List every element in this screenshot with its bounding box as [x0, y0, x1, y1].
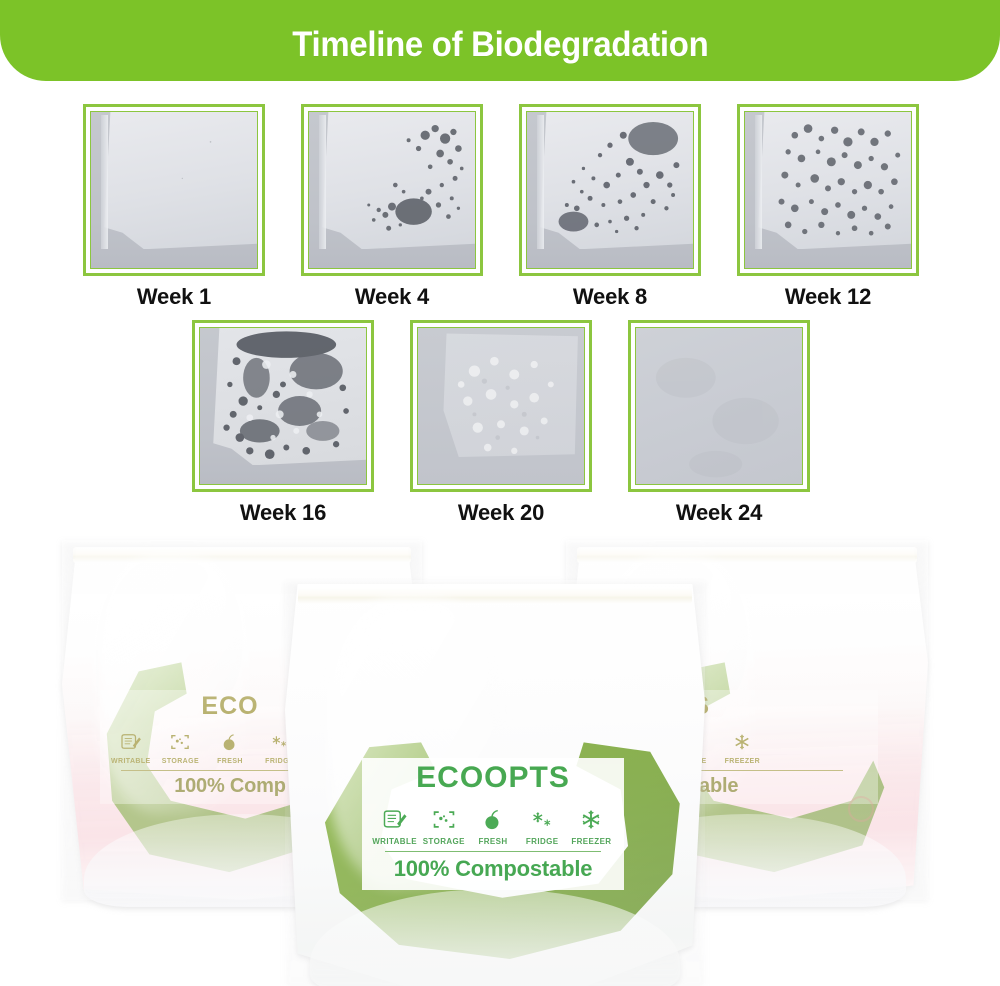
timeline-item-week-24[interactable]: Week 24 — [610, 320, 828, 526]
storage-icon — [431, 809, 457, 834]
thumbnail-frame — [301, 104, 483, 276]
bag-label-center: ECOOPTS WRITABLE — [362, 758, 624, 890]
freezer-icon — [731, 733, 753, 755]
timeline-label: Week 1 — [137, 284, 211, 310]
brand-name: ECOOPTS — [416, 763, 570, 793]
thumbnail-image-week-4 — [308, 111, 476, 269]
timeline-item-week-4[interactable]: Week 4 — [283, 104, 501, 310]
timeline-item-week-20[interactable]: Week 20 — [392, 320, 610, 526]
feature-fresh: FRESH — [468, 809, 517, 846]
feature-writable: WRITABLE — [106, 733, 156, 765]
feature-writable: WRITABLE — [370, 809, 419, 846]
bag-zip-seal — [73, 547, 411, 563]
thumbnail-image-week-8 — [526, 111, 694, 269]
page-title: Timeline of Biodegradation — [292, 25, 708, 65]
feature-storage: STORAGE — [419, 809, 468, 846]
feature-label: WRITABLE — [111, 758, 151, 765]
fresh-icon — [219, 733, 241, 755]
freezer-icon — [578, 809, 604, 834]
thumbnail-frame — [410, 320, 592, 492]
writable-icon — [120, 733, 142, 755]
product-bag-center[interactable]: ECOOPTS WRITABLE — [285, 580, 705, 986]
header-banner: Timeline of Biodegradation — [0, 0, 1000, 81]
thumbnail-image-week-20 — [417, 327, 585, 485]
compostable-claim: 100% Compostable — [394, 856, 593, 882]
product-photo-group: ECO WRITABLE — [0, 532, 1000, 986]
feature-label: FRESH — [217, 758, 243, 765]
thumbnail-image-week-1 — [90, 111, 258, 269]
thumbnail-frame — [83, 104, 265, 276]
feature-label: FREEZER — [725, 758, 760, 765]
certification-badge — [848, 796, 874, 822]
feature-icon-row: WRITABLE STORAGE — [370, 809, 616, 846]
storage-icon — [169, 733, 191, 755]
thumbnail-frame — [519, 104, 701, 276]
bag-zip-seal — [577, 547, 917, 563]
feature-label: FREEZER — [571, 837, 611, 846]
timeline-row-2: Week 16 — [0, 320, 1000, 526]
feature-freezer: FREEZER — [725, 733, 760, 765]
bag-zip-seal — [298, 588, 693, 604]
feature-freezer: FREEZER — [567, 809, 616, 846]
timeline-item-week-8[interactable]: Week 8 — [501, 104, 719, 310]
timeline-label: Week 12 — [785, 284, 871, 310]
thumbnail-image-week-16 — [199, 327, 367, 485]
thumbnail-image-week-24 — [635, 327, 803, 485]
timeline-label: Week 20 — [458, 500, 544, 526]
thumbnail-frame — [737, 104, 919, 276]
feature-label: STORAGE — [423, 837, 465, 846]
feature-storage: STORAGE — [156, 733, 206, 765]
thumbnail-frame — [192, 320, 374, 492]
label-divider — [385, 851, 601, 852]
writable-icon — [382, 809, 408, 834]
timeline-label: Week 4 — [355, 284, 429, 310]
timeline-label: Week 16 — [240, 500, 326, 526]
biodegradation-timeline: Week 1 — [0, 104, 1000, 526]
feature-label: FRESH — [478, 837, 507, 846]
feature-label: STORAGE — [162, 758, 199, 765]
timeline-item-week-1[interactable]: Week 1 — [65, 104, 283, 310]
fresh-icon — [480, 809, 506, 834]
feature-label: WRITABLE — [372, 837, 417, 846]
timeline-label: Week 8 — [573, 284, 647, 310]
compostable-claim: 100% Comp — [174, 775, 286, 798]
brand-name: ECO — [201, 694, 258, 719]
timeline-row-1: Week 1 — [0, 104, 1000, 310]
timeline-label: Week 24 — [676, 500, 762, 526]
feature-fridge: FRIDGE — [518, 809, 567, 846]
feature-label: FRIDGE — [526, 837, 559, 846]
timeline-item-week-12[interactable]: Week 12 — [719, 104, 937, 310]
timeline-item-week-16[interactable]: Week 16 — [174, 320, 392, 526]
fridge-icon — [529, 809, 555, 834]
thumbnail-image-week-12 — [744, 111, 912, 269]
feature-fresh: FRESH — [205, 733, 255, 765]
thumbnail-frame — [628, 320, 810, 492]
